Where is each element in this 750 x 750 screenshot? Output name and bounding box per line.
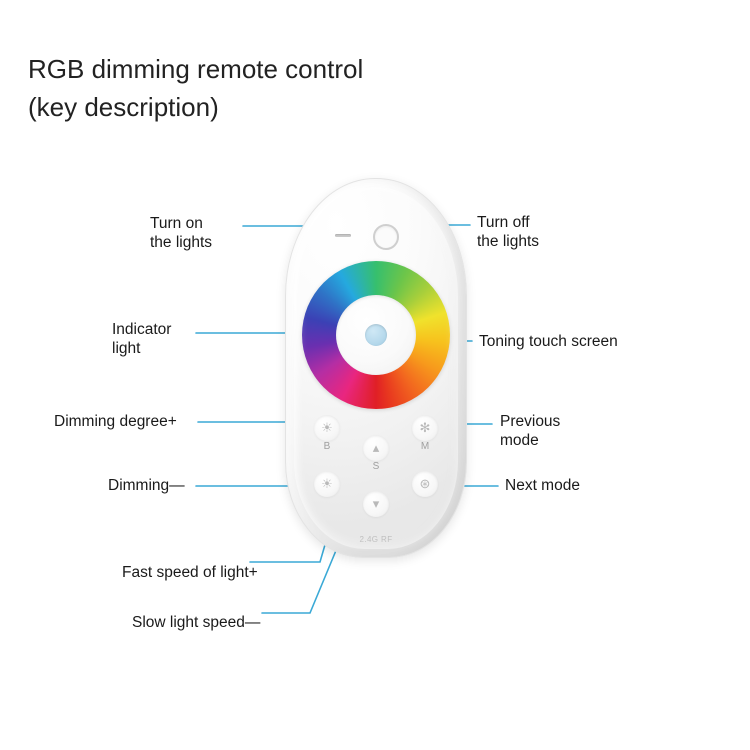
speed-up-key[interactable]: ▴ — [363, 435, 389, 461]
indicator-light — [365, 324, 387, 346]
callout-previous-mode: Previous mode — [500, 412, 560, 450]
turn-off-button[interactable] — [335, 234, 351, 237]
turn-on-button[interactable] — [373, 224, 399, 250]
previous-mode-key-label: M — [412, 441, 438, 452]
callout-fast-speed: Fast speed of light+ — [122, 563, 258, 582]
callout-toning-touch-screen: Toning touch screen — [479, 332, 618, 351]
brightness-down-key[interactable]: ☀ — [314, 471, 340, 497]
rf-frequency-mark: 2.4G RF — [340, 535, 412, 544]
next-mode-key[interactable]: ⊛ — [412, 471, 438, 497]
wheel-inner-disc — [336, 295, 416, 375]
previous-mode-key[interactable]: ✻ — [412, 415, 438, 441]
toning-touch-screen[interactable] — [302, 261, 450, 409]
speed-down-key[interactable]: ▾ — [363, 491, 389, 517]
brightness-up-key-label: B — [314, 441, 340, 452]
power-row — [286, 223, 466, 249]
callout-slow-speed: Slow light speed— — [132, 613, 260, 632]
remote-body: ☀ B ✻ M ☀ ⊛ ▴ S ▾ 2.4G RF — [285, 178, 467, 558]
callout-turn-on: Turn on the lights — [150, 214, 212, 252]
callout-dimming-degree-plus: Dimming degree+ — [54, 412, 177, 431]
diagram-stage: ☀ B ✻ M ☀ ⊛ ▴ S ▾ 2.4G RF Turn on the li… — [0, 0, 750, 750]
callout-indicator-light: Indicator light — [112, 320, 171, 358]
callout-dimming-minus: Dimming— — [108, 476, 185, 495]
callout-next-mode: Next mode — [505, 476, 580, 495]
callout-turn-off: Turn off the lights — [477, 213, 539, 251]
speed-up-key-label: S — [363, 461, 389, 472]
brightness-up-key[interactable]: ☀ — [314, 415, 340, 441]
